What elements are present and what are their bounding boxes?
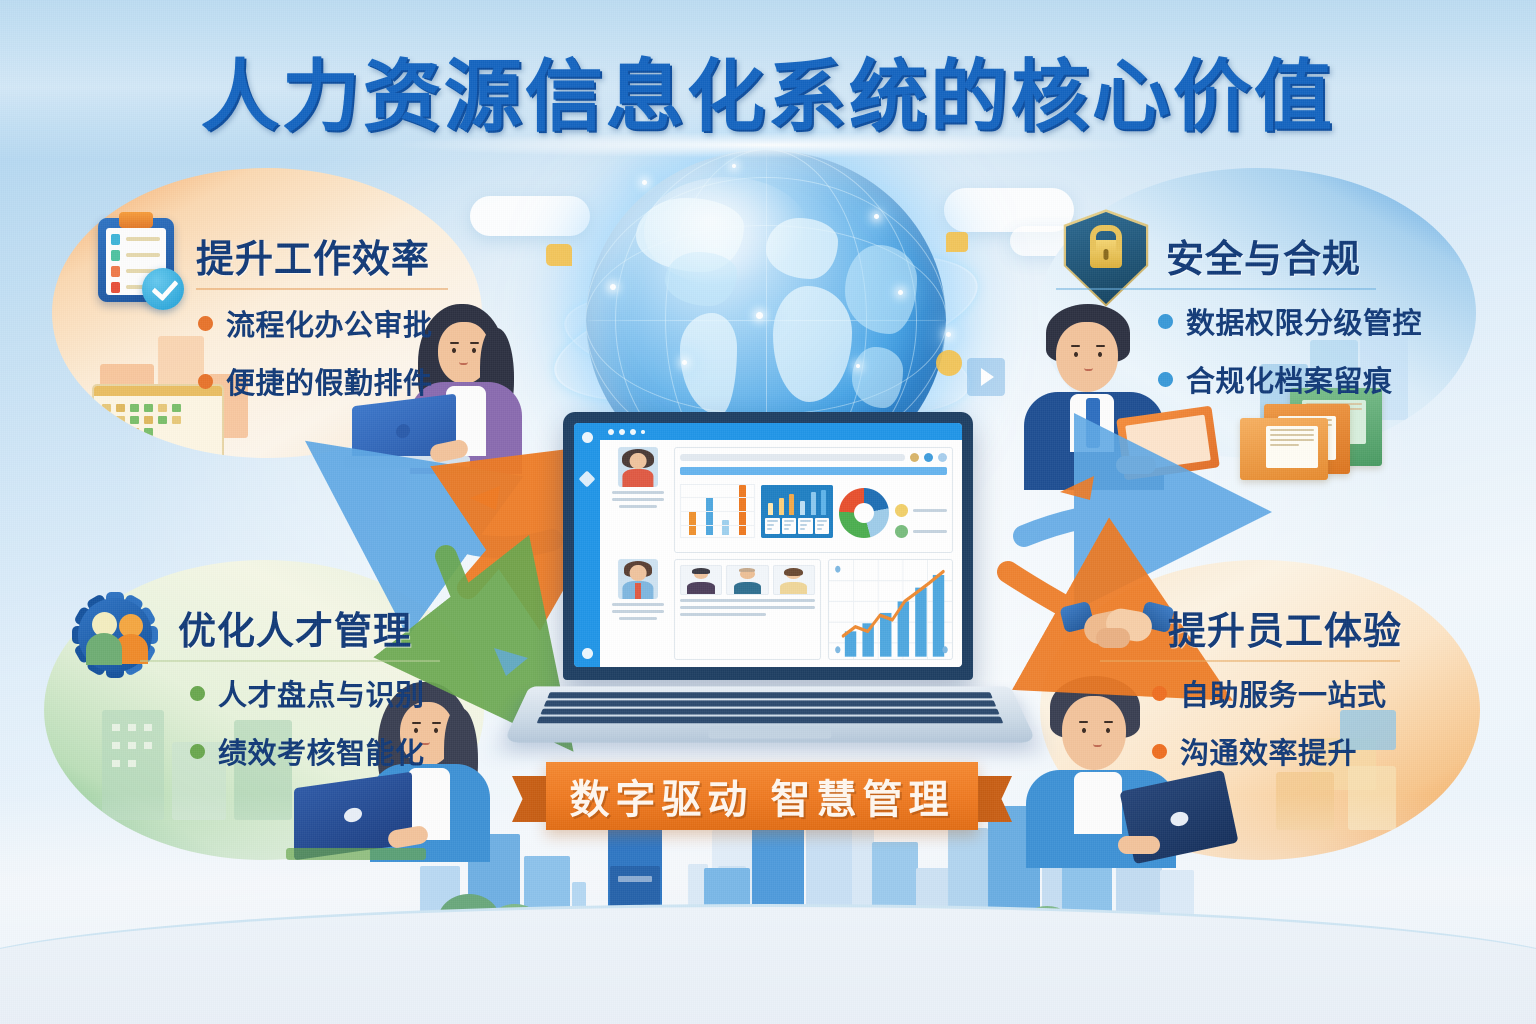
bullet-dot	[1152, 744, 1167, 759]
sparkle	[856, 364, 860, 368]
trackpad[interactable]	[708, 726, 832, 738]
ground-plane	[0, 904, 1536, 1024]
bullet-label: 人才盘点与识别	[218, 672, 425, 714]
team-avatar[interactable]	[773, 565, 815, 595]
sparkle	[946, 332, 951, 337]
window-dot[interactable]	[608, 429, 614, 435]
donut-chart	[839, 488, 889, 538]
chat-bubble-yellow-left	[546, 244, 572, 266]
status-dot	[910, 453, 919, 462]
page-title: 人力资源信息化系统的核心价值	[0, 34, 1536, 146]
sparkle	[682, 360, 687, 365]
necktie	[1086, 398, 1100, 448]
status-dot	[924, 453, 933, 462]
quadrant-br-header: 提升员工体验	[1168, 600, 1402, 655]
laptop-lid	[563, 412, 973, 680]
bullet-dot	[190, 744, 205, 759]
chart-legend	[895, 504, 947, 538]
quadrant-tl-title: 提升工作效率	[196, 228, 430, 283]
quadrant-tr-title: 安全与合规	[1166, 228, 1361, 283]
avatar	[618, 447, 658, 487]
window-dot[interactable]	[641, 430, 645, 434]
shield-lock-icon	[1066, 212, 1146, 304]
hr-dashboard-laptop	[505, 412, 1035, 772]
window-titlebar	[600, 423, 962, 440]
bullet-label: 沟通效率提升	[1180, 730, 1357, 772]
play-button-icon[interactable]	[967, 358, 1005, 396]
section-header-bar	[680, 467, 947, 475]
dot-yellow	[936, 350, 962, 376]
gear-people-icon	[72, 592, 158, 678]
bullet-dot	[190, 686, 205, 701]
profile-card[interactable]	[609, 447, 667, 553]
sparkle	[642, 180, 647, 185]
analytics-panel	[674, 447, 953, 553]
divider	[1100, 660, 1400, 662]
text-line	[680, 606, 815, 609]
person-glyph-green	[86, 612, 122, 662]
legend-label	[913, 509, 947, 512]
growth-chart	[828, 559, 953, 660]
sparkle	[874, 214, 879, 219]
laptop-screen	[574, 423, 962, 667]
team-avatar[interactable]	[680, 565, 722, 595]
check-badge-icon	[142, 268, 184, 310]
bullet-dot	[1158, 314, 1173, 329]
bullet-dot	[1152, 686, 1167, 701]
bullet-label: 便捷的假勤排件	[226, 360, 433, 402]
profile-card[interactable]	[609, 559, 667, 660]
quadrant-bl-title: 优化人才管理	[178, 600, 412, 655]
sparkle	[898, 290, 903, 295]
bullet-item: 自助服务一站式	[1152, 672, 1387, 714]
chat-bubble-yellow	[946, 232, 968, 252]
arrow-center-to-top-right	[1024, 512, 1140, 536]
handshake-icon	[1062, 598, 1172, 660]
quadrant-br-bullets: 自助服务一站式 沟通效率提升	[1152, 672, 1387, 772]
bullet-label: 绩效考核智能化	[218, 730, 425, 772]
banner-ribbon: 数字驱动 智慧管理	[512, 762, 1012, 836]
bullet-dot	[1158, 372, 1173, 387]
arrow-chevron-orange-left	[470, 486, 500, 510]
bullet-item: 沟通效率提升	[1152, 730, 1387, 772]
tag-icon[interactable]	[579, 471, 596, 488]
text-line	[612, 491, 664, 494]
bullet-item: 合规化档案留痕	[1158, 358, 1422, 400]
team-avatar[interactable]	[726, 565, 768, 595]
legend-dot	[895, 504, 908, 517]
sidebar-dot-top[interactable]	[582, 432, 593, 443]
quadrant-tr-header: 安全与合规	[1166, 228, 1361, 283]
bullet-label: 流程化办公审批	[226, 302, 433, 344]
bullet-dot	[198, 374, 213, 389]
banner-text: 数字驱动 智慧管理	[569, 767, 954, 825]
text-line	[619, 617, 657, 620]
bullet-item: 数据权限分级管控	[1158, 300, 1422, 342]
text-line	[680, 599, 815, 602]
bullet-label: 自助服务一站式	[1180, 672, 1387, 714]
app-sidebar[interactable]	[574, 423, 600, 667]
text-line	[619, 505, 657, 508]
infographic-poster: 提升工作效率 流程化办公审批 便捷的假勤排件	[0, 0, 1536, 1024]
quadrant-tl-header: 提升工作效率	[196, 228, 430, 283]
bullet-item: 人才盘点与识别	[190, 672, 425, 714]
clipboard-check-icon	[98, 218, 174, 302]
legend-label	[913, 530, 947, 533]
mini-bar-chart	[680, 484, 755, 538]
bullet-item: 绩效考核智能化	[190, 730, 425, 772]
banner-body: 数字驱动 智慧管理	[546, 762, 978, 830]
window-dot[interactable]	[619, 429, 625, 435]
sparkle	[756, 312, 763, 319]
bullet-label: 合规化档案留痕	[1186, 358, 1393, 400]
bullet-dot	[198, 316, 213, 331]
text-line	[612, 610, 664, 613]
text-line	[680, 613, 766, 616]
legend-dot	[895, 525, 908, 538]
folder-orange-front-icon	[1240, 418, 1328, 480]
quadrant-bl-bullets: 人才盘点与识别 绩效考核智能化	[190, 672, 425, 772]
quadrant-br-title: 提升员工体验	[1168, 600, 1402, 655]
window-dot[interactable]	[630, 429, 636, 435]
hand	[1118, 836, 1160, 854]
divider	[1056, 288, 1376, 290]
team-panel	[674, 559, 821, 660]
avatar	[618, 559, 658, 599]
sidebar-dot-bottom[interactable]	[582, 648, 593, 659]
search-input[interactable]	[680, 454, 905, 461]
highlight-bar-chart	[761, 485, 833, 538]
laptop-keyboard	[503, 686, 1037, 742]
text-line	[612, 603, 664, 606]
hand	[1116, 456, 1156, 474]
sparkle	[732, 164, 736, 168]
bullet-item: 便捷的假勤排件	[198, 360, 433, 402]
status-dot	[938, 453, 947, 462]
sparkle	[610, 284, 616, 290]
bullet-label: 数据权限分级管控	[1186, 300, 1422, 342]
quadrant-bl-header: 优化人才管理	[178, 600, 412, 655]
divider	[196, 288, 448, 290]
divider	[140, 660, 440, 662]
quadrant-tr-bullets: 数据权限分级管控 合规化档案留痕	[1158, 300, 1422, 400]
bullet-item: 流程化办公审批	[198, 302, 433, 344]
quadrant-tl-bullets: 流程化办公审批 便捷的假勤排件	[198, 302, 433, 402]
text-line	[612, 498, 664, 501]
dashboard-content	[600, 440, 962, 667]
